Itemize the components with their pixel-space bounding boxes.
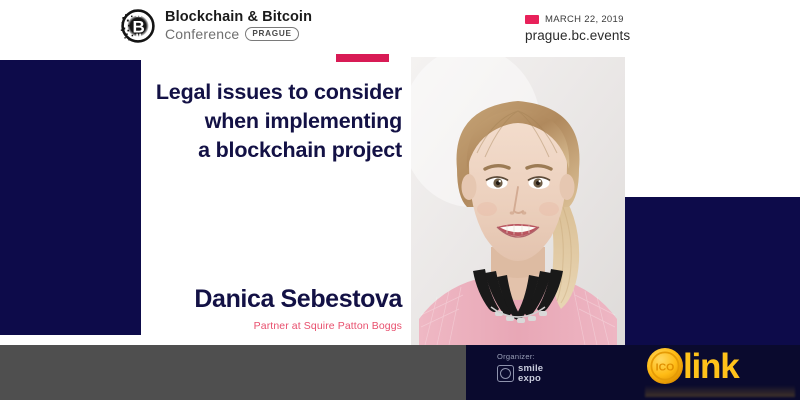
slide-header: B Blockchain & Bitcoin Conference PRAGUE… xyxy=(0,0,800,60)
svg-text:ICO: ICO xyxy=(656,361,675,373)
smile-expo-mark-icon xyxy=(497,365,514,382)
slide-title-line-3: a blockchain project xyxy=(120,136,402,165)
slide-canvas: B Blockchain & Bitcoin Conference PRAGUE… xyxy=(0,0,800,400)
organizer-block: Organizer: smile expo xyxy=(497,352,543,383)
brand-line-2: Conference xyxy=(165,27,239,42)
speaker-name: Danica Sebestova xyxy=(120,285,402,314)
brand-line-1: Blockchain & Bitcoin xyxy=(165,10,312,26)
event-date: MARCH 22, 2019 xyxy=(545,14,624,25)
flag-icon xyxy=(525,15,539,24)
conference-logo: B Blockchain & Bitcoin Conference PRAGUE xyxy=(120,8,312,44)
speaker-photo xyxy=(411,57,625,345)
speaker-role: Partner at Squire Patton Boggs xyxy=(120,320,402,332)
bitcoin-coin-icon: B xyxy=(120,8,156,44)
organizer-name-line-2: expo xyxy=(518,374,543,384)
ico-link-word: link xyxy=(683,349,739,384)
slide-title-line-1: Legal issues to consider xyxy=(120,78,402,107)
svg-text:B: B xyxy=(132,18,144,37)
decorative-gray-bar-bottom xyxy=(0,345,466,400)
ico-link-watermark: ICO link xyxy=(645,346,739,386)
conference-logo-text: Blockchain & Bitcoin Conference PRAGUE xyxy=(165,10,312,42)
ico-coin-icon: ICO xyxy=(645,346,685,386)
city-badge: PRAGUE xyxy=(245,27,298,41)
event-url[interactable]: prague.bc.events xyxy=(525,28,630,43)
ico-link-reflection xyxy=(645,385,795,397)
accent-bar xyxy=(336,54,389,62)
smile-expo-logo: smile expo xyxy=(497,364,543,383)
slide-title-line-2: when implementing xyxy=(120,107,402,136)
organizer-label: Organizer: xyxy=(497,352,543,361)
decorative-navy-block-right xyxy=(620,197,800,345)
event-meta: MARCH 22, 2019 prague.bc.events xyxy=(525,14,630,43)
slide-title: Legal issues to consider when implementi… xyxy=(120,78,402,166)
